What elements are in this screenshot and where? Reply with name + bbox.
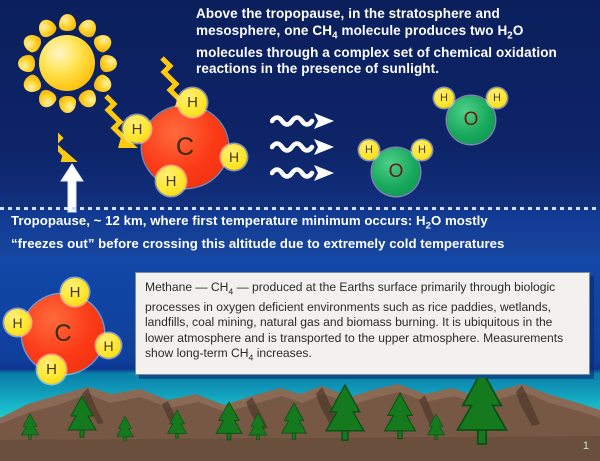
tropopause-line1-seg-a: Tropopause, ~ 12 km, where first tempera…: [11, 213, 426, 228]
top-paragraph: Above the tropopause, in the stratospher…: [196, 6, 596, 78]
top-paragraph-line-3: molecules through a complex set of chemi…: [196, 45, 596, 62]
slide-canvas: C H H H H O H H O H H Above the tropopau…: [0, 0, 600, 461]
tropopause-caption: Tropopause, ~ 12 km, where first tempera…: [11, 212, 593, 253]
molecule-ch4-lower: C H H H H: [4, 278, 134, 390]
molecule-h2o-lower: O H H: [357, 140, 435, 198]
methane-text-seg-3: increases.: [253, 346, 311, 360]
top-line2-seg-c: O: [513, 23, 524, 38]
atom-hydrogen-right: H: [221, 144, 247, 170]
top-paragraph-line-2: mesosphere, one CH4 molecule produces tw…: [196, 23, 596, 45]
wavy-arrow-right-icon: [270, 112, 348, 184]
atom-hydrogen-left: H: [434, 88, 454, 108]
top-paragraph-line-4: reactions in the presence of sunlight.: [196, 61, 596, 78]
top-line2-seg-a: mesosphere, one CH: [196, 23, 332, 38]
tropopause-dotted-line: [0, 207, 600, 210]
tropopause-line-1: Tropopause, ~ 12 km, where first tempera…: [11, 212, 593, 235]
atom-hydrogen-bottom: H: [156, 166, 186, 196]
atom-hydrogen-left: H: [123, 115, 151, 143]
foreground-ground: [0, 436, 600, 461]
landscape-illustration: [0, 378, 600, 461]
atom-hydrogen-left: H: [4, 309, 31, 336]
tropopause-line1-seg-b: O mostly: [431, 213, 488, 228]
atom-hydrogen-top: H: [61, 278, 89, 306]
atom-hydrogen-top: H: [178, 88, 207, 117]
top-line2-seg-b: molecule produces two H: [338, 23, 508, 38]
methane-text-seg-1: Methane — CH: [145, 280, 228, 294]
page-number: 1: [583, 440, 589, 452]
molecule-ch4-upper: C H H H H: [118, 88, 268, 203]
atom-hydrogen-left: H: [359, 140, 379, 160]
atom-hydrogen-right: H: [487, 88, 507, 108]
atom-hydrogen-right: H: [412, 140, 432, 160]
methane-description-box: Methane — CH4 — produced at the Earths s…: [135, 272, 590, 375]
molecule-h2o-upper: O H H: [432, 88, 510, 146]
tropopause-line-2: “freezes out” before crossing this altit…: [11, 235, 593, 253]
top-paragraph-line-1: Above the tropopause, in the stratospher…: [196, 6, 596, 23]
atom-hydrogen-right: H: [96, 333, 121, 358]
